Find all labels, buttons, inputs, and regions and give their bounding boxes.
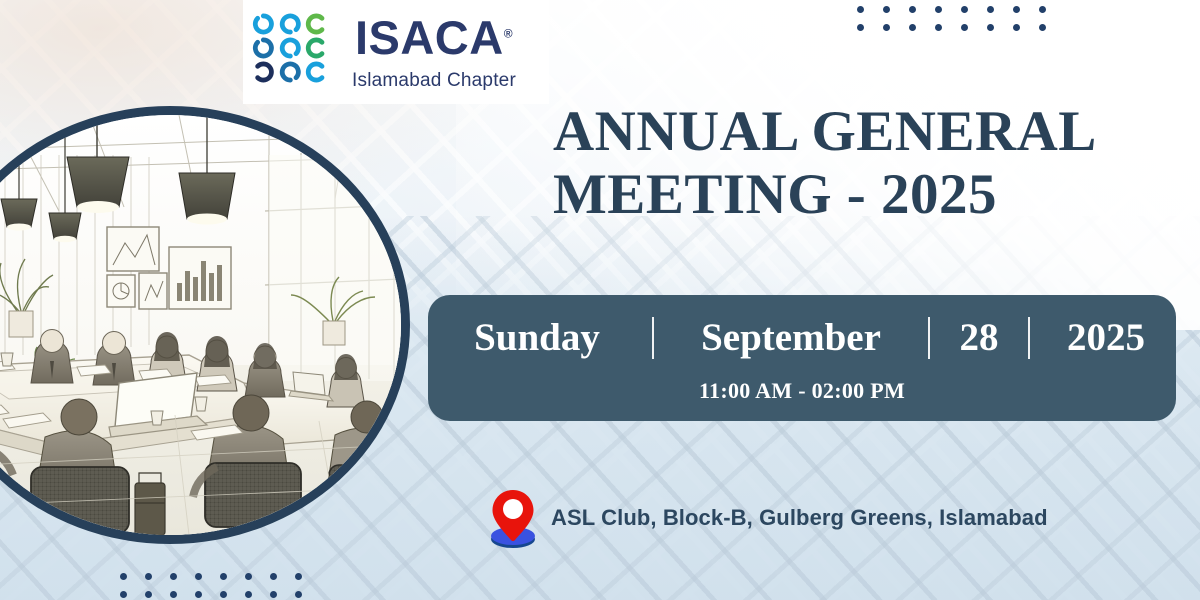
decor-dot [1039,6,1046,13]
isaca-wordmark: ISACA® [355,14,513,61]
decor-dot [909,24,916,31]
decor-dot [220,573,227,580]
decor-dot [883,6,890,13]
decor-dot [220,591,227,598]
ring-icon [251,37,276,59]
map-pin-icon [487,487,539,549]
decor-dot [987,24,994,31]
decor-dot [961,6,968,13]
decor-dot [857,24,864,31]
decor-dot [1013,6,1020,13]
decor-dot [170,573,177,580]
ring-icon [304,13,329,35]
isaca-chapter-name: Islamabad Chapter [352,70,516,92]
decor-dot [270,591,277,598]
boardroom-illustration-oval [0,106,410,544]
event-date-bar: Sunday September 28 2025 11:00 AM - 02:0… [428,295,1176,421]
decor-dot [935,24,942,31]
decor-dot [145,573,152,580]
ring-icon [251,13,276,35]
decor-dot [170,591,177,598]
event-date-row: Sunday September 28 2025 [444,317,1160,359]
decor-dot [245,591,252,598]
event-year: 2025 [1052,318,1160,357]
event-time: 11:00 AM - 02:00 PM [699,378,905,404]
event-month: September [676,318,906,357]
decor-dot [1039,24,1046,31]
event-date-number: 28 [952,318,1006,357]
event-title: ANNUAL GENERAL MEETING - 2025 [553,98,1163,229]
isaca-wordmark-text: ISACA [355,11,504,64]
dot-grid-bottom-left [120,573,320,600]
ring-icon [278,37,303,59]
ring-icon [278,13,303,35]
ring-icon [304,37,329,59]
date-separator [928,317,930,359]
date-separator [1028,317,1030,359]
ring-icon [304,61,329,83]
decor-dot [909,6,916,13]
decor-dot [883,24,890,31]
decor-dot [935,6,942,13]
ring-icon [251,61,276,83]
isaca-ring-grid-icon [251,13,329,83]
event-title-line-1: ANNUAL GENERAL [553,98,1163,165]
decor-dot [295,591,302,598]
event-title-line-2: MEETING - 2025 [553,161,1163,228]
decor-dot [120,591,127,598]
decor-dot [195,573,202,580]
ring-icon [278,61,303,83]
decor-dot [120,573,127,580]
boardroom-meeting-sketch [0,115,401,535]
decor-dot [195,591,202,598]
registered-mark: ® [504,26,513,40]
decor-dot [987,6,994,13]
date-separator [652,317,654,359]
decor-dot [961,24,968,31]
event-banner: ISACA® Islamabad Chapter ANNUAL GENERAL … [0,0,1200,600]
dot-grid-top-right [857,6,1065,42]
event-day: Sunday [444,318,630,357]
decor-dot [1013,24,1020,31]
decor-dot [295,573,302,580]
isaca-logo-text: ISACA® Islamabad Chapter [329,12,539,92]
event-venue: ASL Club, Block-B, Gulberg Greens, Islam… [487,487,1048,549]
decor-dot [245,573,252,580]
decor-dot [145,591,152,598]
venue-address: ASL Club, Block-B, Gulberg Greens, Islam… [551,505,1048,531]
decor-dot [270,573,277,580]
isaca-logo: ISACA® Islamabad Chapter [243,0,549,104]
decor-dot [857,6,864,13]
